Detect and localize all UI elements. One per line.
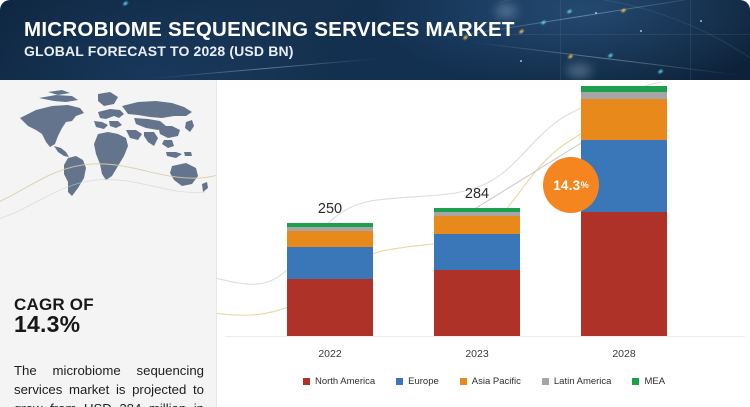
legend-swatch-icon <box>303 378 310 385</box>
bar-2028[interactable] <box>581 86 667 336</box>
legend-swatch-icon <box>396 378 403 385</box>
legend-swatch-icon <box>632 378 639 385</box>
header-sparkle <box>520 60 522 62</box>
cagr-value: 14.3% <box>14 312 80 336</box>
market-description: The microbiome sequencing services marke… <box>14 361 204 407</box>
legend-item-europe[interactable]: Europe <box>396 376 439 387</box>
legend-item-latin-america[interactable]: Latin America <box>542 376 612 387</box>
infographic-root: MICROBIOME SEQUENCING SERVICES MARKET GL… <box>0 0 750 407</box>
bar-value-label-2023: 284 <box>434 186 520 202</box>
x-axis-label-2022: 2022 <box>275 348 385 360</box>
bar-segment-asia-pacific[interactable] <box>287 231 373 247</box>
left-panel: CAGR OF 14.3% The microbiome sequencing … <box>0 80 216 407</box>
header-grid-line <box>500 34 750 35</box>
legend-swatch-icon <box>460 378 467 385</box>
legend-label: Latin America <box>554 376 612 387</box>
x-axis-label-2023: 2023 <box>422 348 532 360</box>
bar-segment-north-america[interactable] <box>434 270 520 336</box>
legend-item-asia-pacific[interactable]: Asia Pacific <box>460 376 521 387</box>
bar-2023[interactable] <box>434 208 520 336</box>
bar-value-label-2022: 250 <box>287 201 373 217</box>
bar-2022[interactable] <box>287 223 373 336</box>
bar-segment-asia-pacific[interactable] <box>581 99 667 140</box>
header-subtitle: GLOBAL FORECAST TO 2028 (USD BN) <box>24 43 294 59</box>
header-banner: MICROBIOME SEQUENCING SERVICES MARKET GL… <box>0 0 750 80</box>
legend-label: MEA <box>644 376 665 387</box>
header-sparkle <box>700 20 702 22</box>
bar-segment-europe[interactable] <box>287 247 373 279</box>
bar-segment-north-america[interactable] <box>287 279 373 336</box>
chart-panel: 250202228420235552028 14.3% North Americ… <box>216 80 750 407</box>
chart-baseline <box>225 336 745 337</box>
legend-item-mea[interactable]: MEA <box>632 376 665 387</box>
header-title: MICROBIOME SEQUENCING SERVICES MARKET <box>24 18 515 42</box>
bar-segment-latin-america[interactable] <box>581 92 667 99</box>
cagr-callout-bubble: 14.3% <box>543 157 599 213</box>
cagr-callout-value: 14.3 <box>553 178 580 193</box>
legend-swatch-icon <box>542 378 549 385</box>
header-grid-line <box>560 0 561 80</box>
cagr-callout-unit: % <box>581 180 589 190</box>
header-glow <box>495 4 517 18</box>
legend-label: Asia Pacific <box>472 376 521 387</box>
x-axis-label-2028: 2028 <box>569 348 679 360</box>
header-glow <box>566 64 592 78</box>
chart-legend: North AmericaEuropeAsia PacificLatin Ame… <box>217 376 750 387</box>
legend-label: Europe <box>408 376 439 387</box>
legend-label: North America <box>315 376 375 387</box>
header-sparkle <box>595 12 597 14</box>
header-sparkle <box>640 30 642 32</box>
left-decorative-waves <box>0 80 216 280</box>
bar-segment-north-america[interactable] <box>581 212 667 336</box>
bar-segment-europe[interactable] <box>434 234 520 270</box>
legend-item-north-america[interactable]: North America <box>303 376 375 387</box>
bar-segment-asia-pacific[interactable] <box>434 216 520 234</box>
